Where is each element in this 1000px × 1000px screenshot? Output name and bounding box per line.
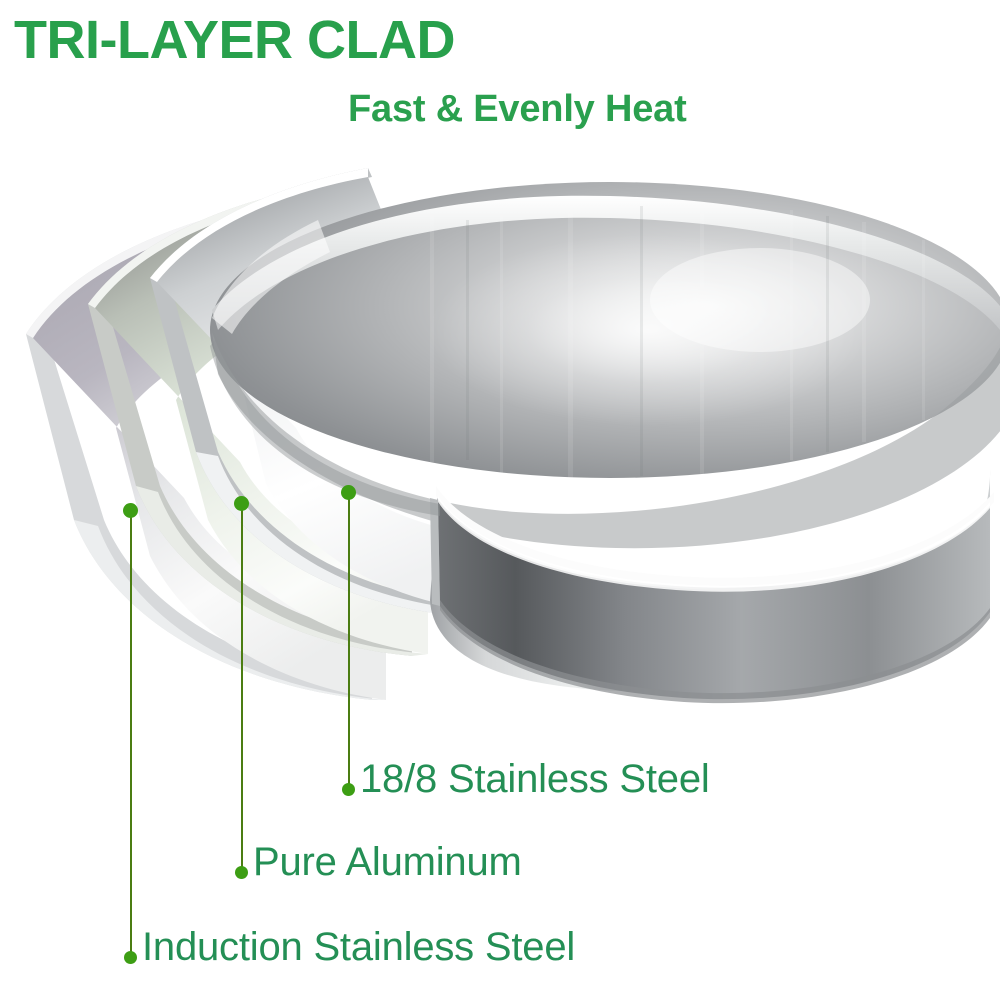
callout-label-inner-steel: 18/8 Stainless Steel	[360, 757, 710, 802]
callout-line-inner-steel	[348, 492, 350, 790]
callout-line-induction-steel	[130, 510, 132, 958]
callout-label-aluminum: Pure Aluminum	[253, 840, 522, 885]
callout-anchor-dot-induction-steel	[123, 503, 138, 518]
page-subtitle: Fast & Evenly Heat	[348, 88, 687, 131]
callout-anchor-dot-inner-steel	[341, 485, 356, 500]
callout-anchor-dot-aluminum	[234, 496, 249, 511]
callout-label-dot-induction-steel	[124, 951, 137, 964]
infographic-canvas: TRI-LAYER CLAD Fast & Evenly Heat 18/8 S…	[0, 0, 1000, 1000]
callout-line-aluminum	[241, 503, 243, 873]
page-title: TRI-LAYER CLAD	[14, 12, 455, 69]
callout-label-dot-aluminum	[235, 866, 248, 879]
callout-label-dot-inner-steel	[342, 783, 355, 796]
callout-label-induction-steel: Induction Stainless Steel	[142, 925, 575, 970]
